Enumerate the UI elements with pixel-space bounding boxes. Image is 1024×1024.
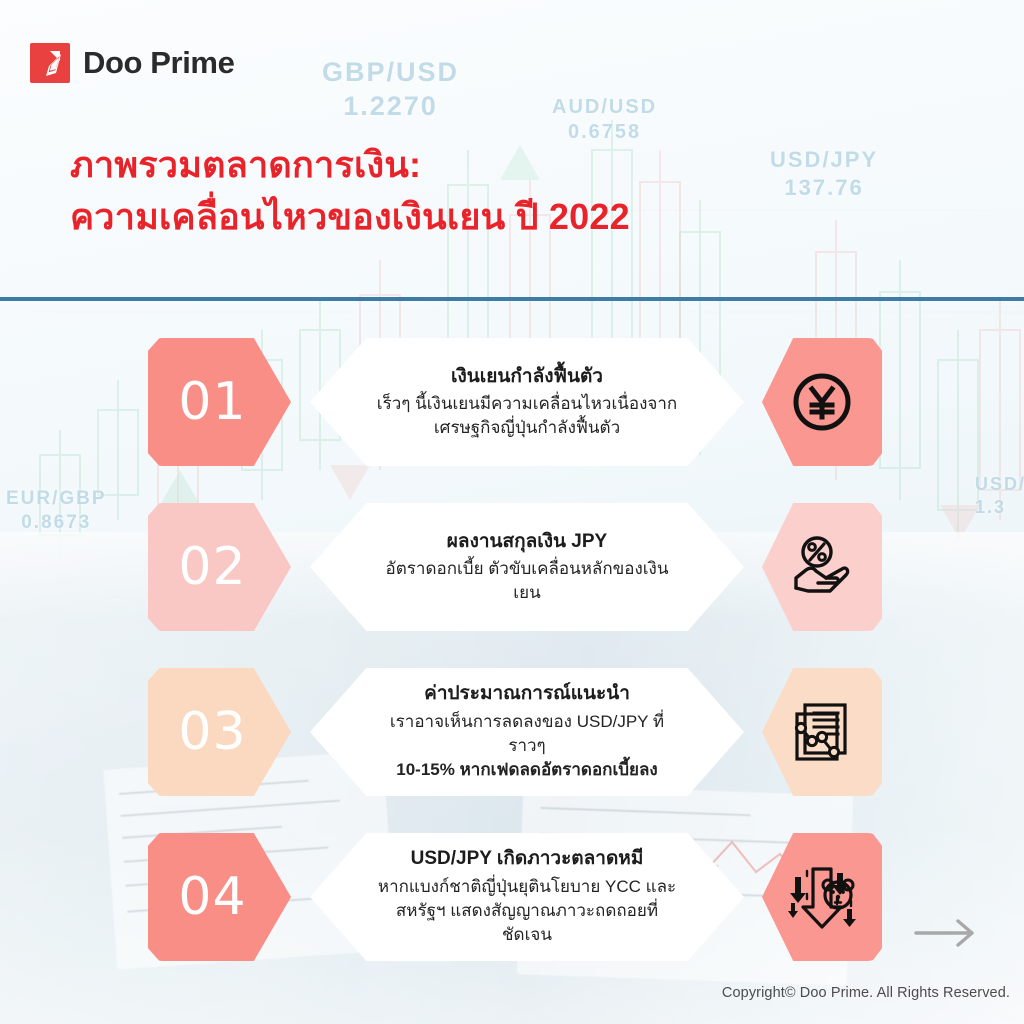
doo-prime-square-pen-mark-icon xyxy=(30,43,70,83)
card-body-line1-02: อัตราดอกเบี้ย ตัวขับเคลื่อนหลักของเงินเย… xyxy=(386,559,669,602)
card-body-line2-01: เศรษฐกิจญี่ปุ่นกำลังฟื้นตัว xyxy=(434,418,620,437)
copyright-text: Copyright© Doo Prime. All Rights Reserve… xyxy=(722,985,1010,1001)
document-declining-chart-icon xyxy=(787,697,857,767)
card-number-04: 04 xyxy=(178,867,246,927)
card-body-line2-03: 10-15% หากเฟดลดอัตราดอกเบี้ยลง xyxy=(396,760,657,779)
page-title-line2: ความเคลื่อนไหวของเงินเยน ปี 2022 xyxy=(70,191,890,243)
card-title-03: ค่าประมาณการณ์แนะนำ xyxy=(424,681,630,707)
card-row-3: 03 ค่าประมาณการณ์แนะนำ เราอาจเห็นการลดลง… xyxy=(0,662,1024,827)
card-body-line1-04: หากแบงก์ชาติญี่ปุ่นยุตินโยบาย YCC และ xyxy=(378,877,676,896)
card-body-02: อัตราดอกเบี้ย ตัวขับเคลื่อนหลักของเงินเย… xyxy=(372,557,682,605)
header-divider xyxy=(0,297,1024,301)
brand-logo: Doo Prime xyxy=(30,43,234,83)
card-row-4: 04 USD/JPY เกิดภาวะตลาดหมี หากแบงก์ชาติญ… xyxy=(0,827,1024,992)
card-body-line1-03: เราอาจเห็นการลดลงของ USD/JPY ที่ราวๆ xyxy=(390,712,664,755)
card-icon-badge-01 xyxy=(762,338,882,466)
card-title-01: เงินเยนกำลังฟื้นตัว xyxy=(451,364,603,390)
bg-quote-gbpusd: GBP/USD1.2270 xyxy=(322,56,459,124)
card-body-line1-01: เร็วๆ นี้เงินเยนมีความเคลื่อนไหวเนื่องจา… xyxy=(377,394,677,413)
arrow-right-icon[interactable] xyxy=(914,918,976,948)
card-body-line2-04: สหรัฐฯ แสดงสัญญาณภาวะถดถอยที่ชัดเจน xyxy=(396,901,658,944)
card-number-badge-02: 02 xyxy=(148,503,291,631)
card-content-02: ผลงานสกุลเงิน JPY อัตราดอกเบี้ย ตัวขับเค… xyxy=(310,503,744,631)
card-number-01: 01 xyxy=(178,372,246,432)
card-number-badge-01: 01 xyxy=(148,338,291,466)
bear-market-down-arrow-icon xyxy=(785,861,859,933)
card-number-badge-04: 04 xyxy=(148,833,291,961)
page-title-line1: ภาพรวมตลาดการเงิน: xyxy=(70,144,421,185)
card-number-badge-03: 03 xyxy=(148,668,291,796)
card-body-04: หากแบงก์ชาติญี่ปุ่นยุตินโยบาย YCC และ สห… xyxy=(372,875,682,947)
card-content-03: ค่าประมาณการณ์แนะนำ เราอาจเห็นการลดลงของ… xyxy=(310,668,744,796)
card-number-03: 03 xyxy=(178,702,246,762)
card-row-1: 01 เงินเยนกำลังฟื้นตัว เร็วๆ นี้เงินเยนม… xyxy=(0,332,1024,497)
card-title-04: USD/JPY เกิดภาวะตลาดหมี xyxy=(411,846,644,872)
card-icon-badge-02 xyxy=(762,503,882,631)
card-number-02: 02 xyxy=(178,537,246,597)
bg-quote-audusd: AUD/USD0.6758 xyxy=(552,95,657,145)
infographic-page: GBP/USD1.2270 AUD/USD0.6758 USD/JPY137.7… xyxy=(0,0,1024,1024)
brand-name: Doo Prime xyxy=(83,45,234,81)
page-title: ภาพรวมตลาดการเงิน: ความเคลื่อนไหวของเงิน… xyxy=(70,139,890,243)
card-title-02: ผลงานสกุลเงิน JPY xyxy=(447,529,607,555)
cards-container: 01 เงินเยนกำลังฟื้นตัว เร็วๆ นี้เงินเยนม… xyxy=(0,332,1024,992)
hand-holding-percent-icon xyxy=(786,533,858,601)
card-content-01: เงินเยนกำลังฟื้นตัว เร็วๆ นี้เงินเยนมีคว… xyxy=(310,338,744,466)
card-body-01: เร็วๆ นี้เงินเยนมีความเคลื่อนไหวเนื่องจา… xyxy=(377,392,677,440)
card-body-03: เราอาจเห็นการลดลงของ USD/JPY ที่ราวๆ 10-… xyxy=(372,710,682,782)
card-content-04: USD/JPY เกิดภาวะตลาดหมี หากแบงก์ชาติญี่ป… xyxy=(310,833,744,961)
yen-coin-icon xyxy=(788,368,856,436)
card-row-2: 02 ผลงานสกุลเงิน JPY อัตราดอกเบี้ย ตัวขั… xyxy=(0,497,1024,662)
card-icon-badge-03 xyxy=(762,668,882,796)
card-icon-badge-04 xyxy=(762,833,882,961)
